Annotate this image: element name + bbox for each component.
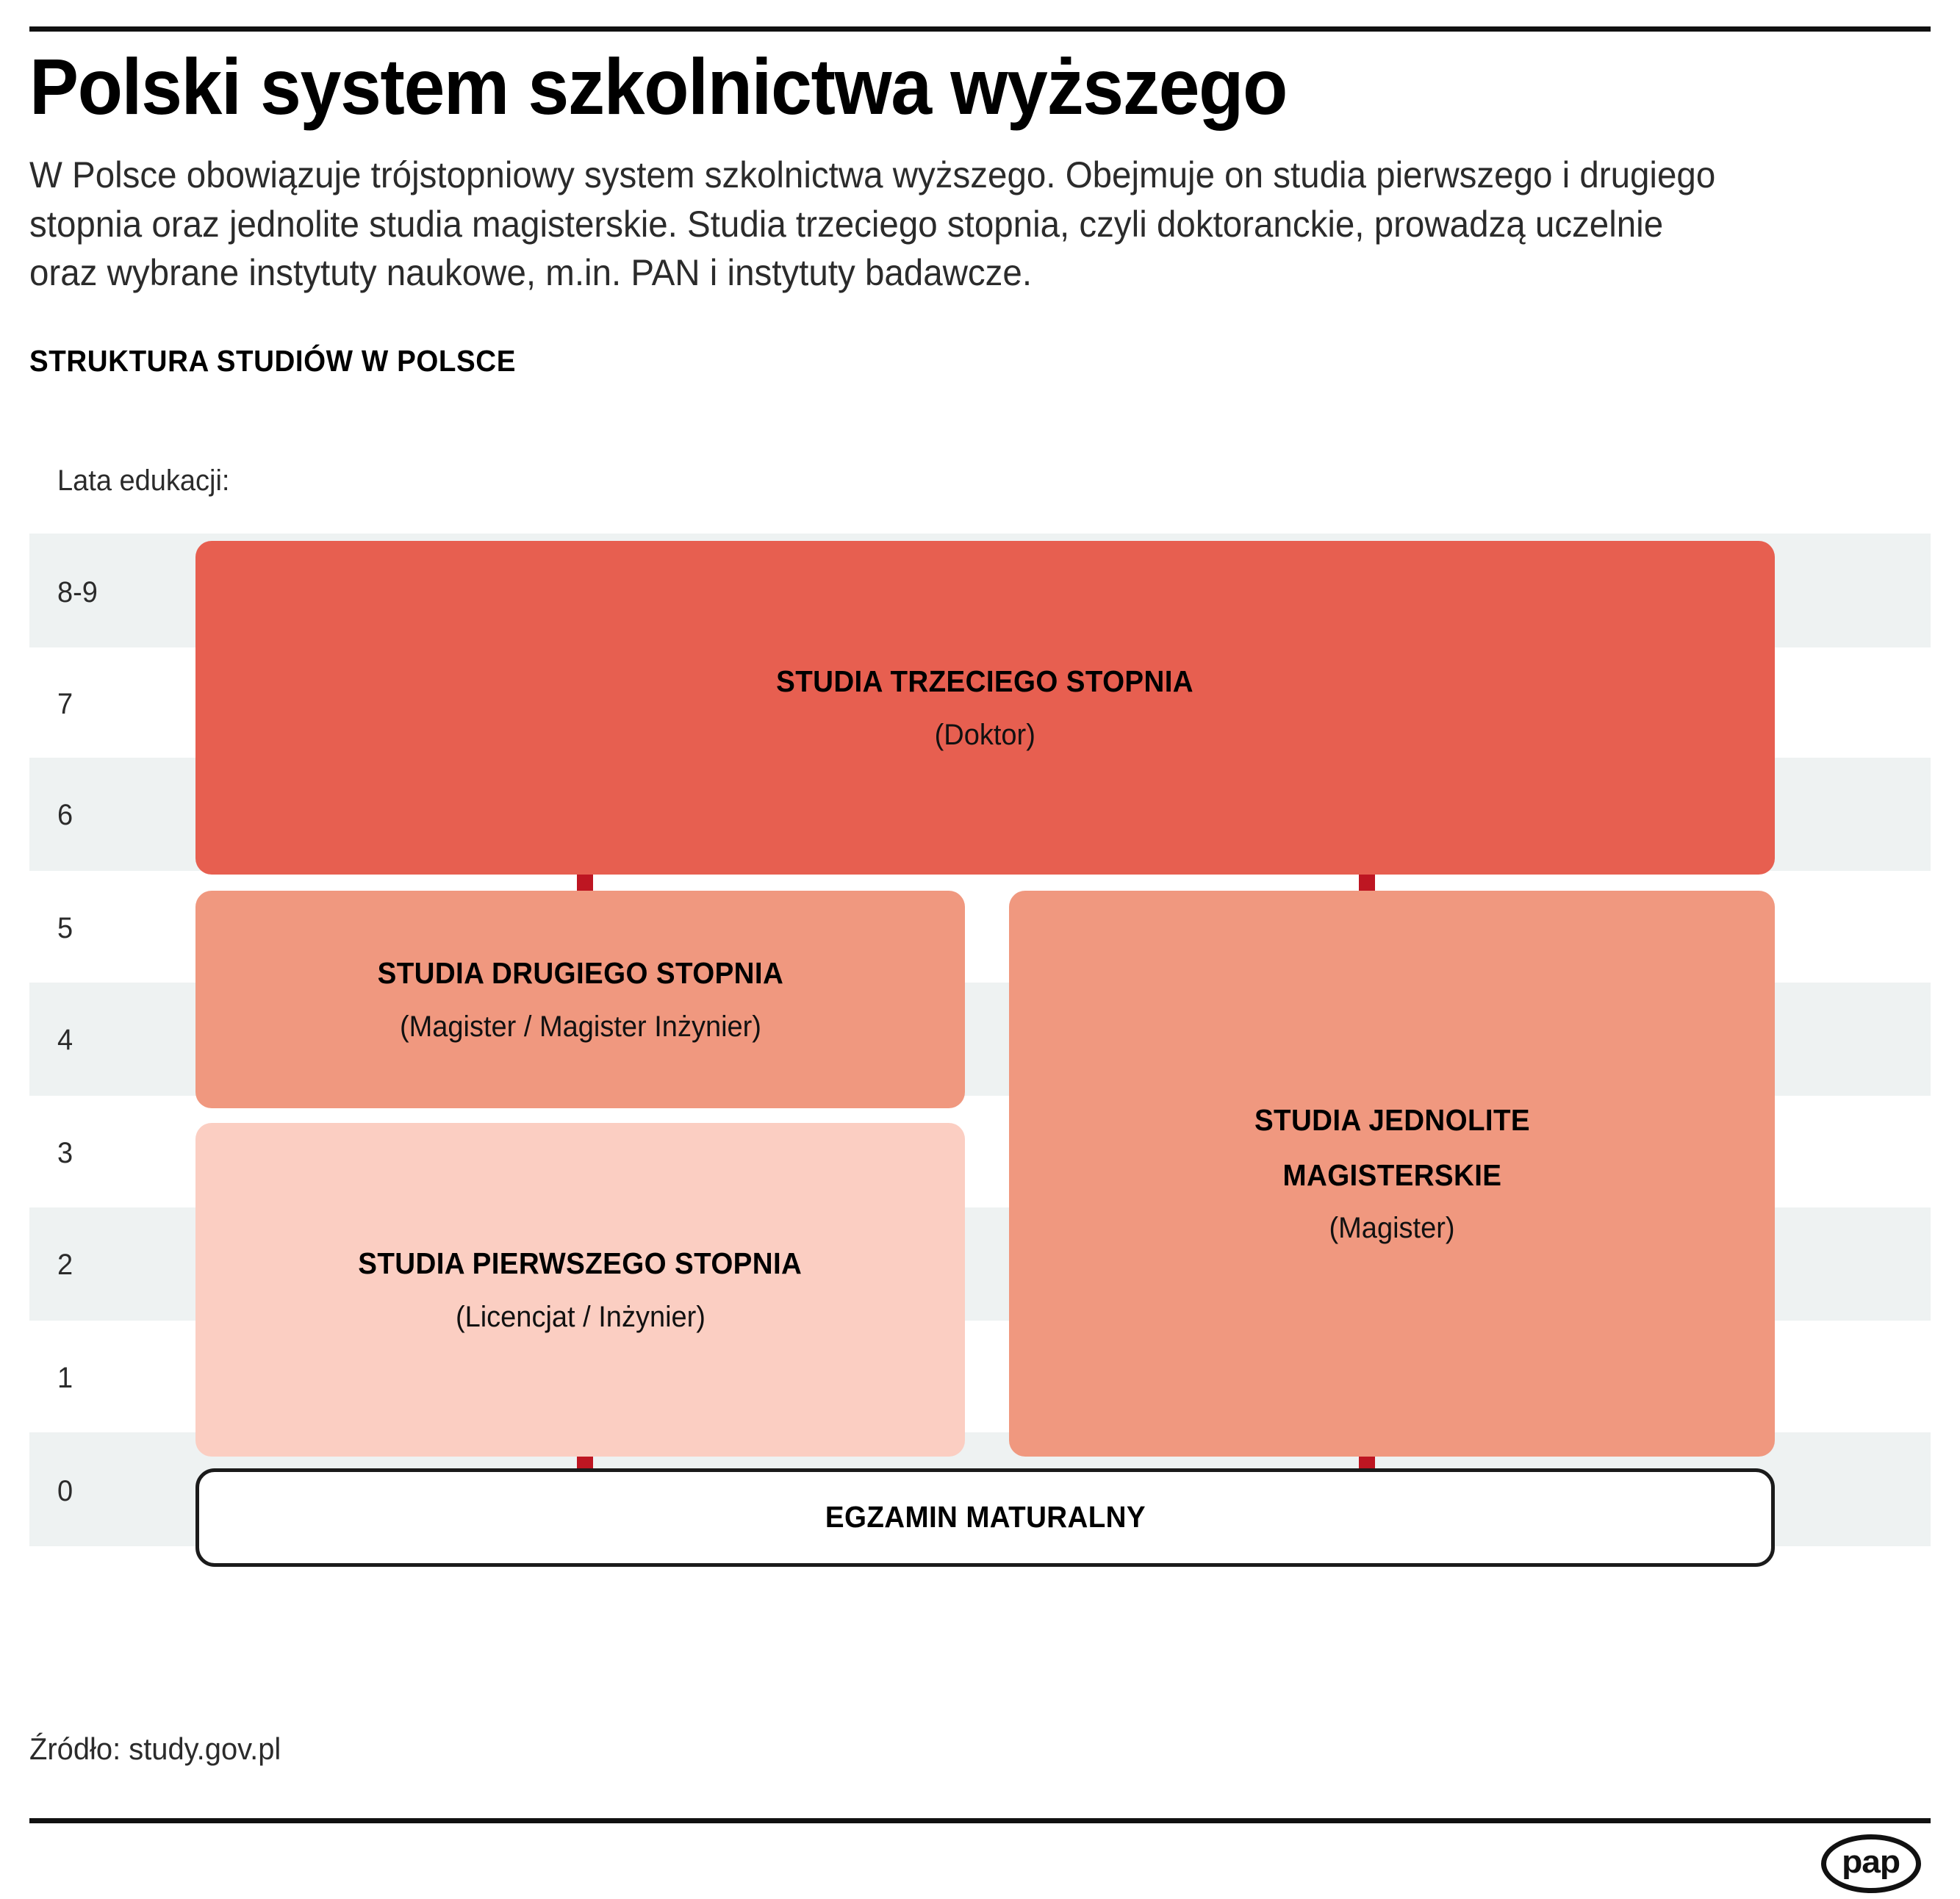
block-first-cycle-title: STUDIA PIERWSZEGO STOPNIA	[358, 1242, 802, 1285]
block-second-cycle-title: STUDIA DRUGIEGO STOPNIA	[377, 952, 783, 995]
year-label-0: 0	[57, 1475, 73, 1508]
block-matura-exam-title: EGZAMIN MATURALNY	[825, 1496, 1145, 1539]
block-first-cycle[interactable]: STUDIA PIERWSZEGO STOPNIA (Licencjat / I…	[195, 1123, 965, 1457]
block-first-cycle-subtitle: (Licencjat / Inżynier)	[455, 1296, 705, 1338]
block-third-cycle[interactable]: STUDIA TRZECIEGO STOPNIA (Doktor)	[195, 541, 1775, 875]
year-label-4: 4	[57, 1024, 73, 1057]
section-subheading: STRUKTURA STUDIÓW W POLSCE	[29, 344, 516, 378]
intro-line-1: W Polsce obowiązuje trójstopniowy system…	[29, 151, 1824, 200]
year-label-3: 3	[57, 1137, 73, 1170]
header-rule	[29, 26, 1931, 32]
block-long-cycle-subtitle: (Magister)	[1329, 1207, 1454, 1249]
year-label-5: 5	[57, 912, 73, 945]
block-long-cycle-master[interactable]: STUDIA JEDNOLITE MAGISTERSKIE (Magister)	[1009, 891, 1775, 1457]
block-second-cycle-subtitle: (Magister / Magister Inżynier)	[399, 1006, 761, 1047]
intro-paragraph: W Polsce obowiązuje trójstopniowy system…	[29, 151, 1824, 298]
source-note: Źródło: study.gov.pl	[29, 1731, 281, 1767]
year-label-8-9: 8-9	[57, 576, 98, 609]
structure-diagram: 8-9 7 6 5 4 3 2 1 0	[29, 534, 1931, 1593]
block-third-cycle-subtitle: (Doktor)	[935, 714, 1035, 755]
intro-line-2: stopnia oraz jednolite studia magistersk…	[29, 200, 1824, 249]
intro-line-3: oraz wybrane instytuty naukowe, m.in. PA…	[29, 248, 1824, 298]
block-second-cycle[interactable]: STUDIA DRUGIEGO STOPNIA (Magister / Magi…	[195, 891, 965, 1108]
block-matura-exam[interactable]: EGZAMIN MATURALNY	[195, 1468, 1775, 1567]
year-label-2: 2	[57, 1249, 73, 1282]
year-label-7: 7	[57, 688, 73, 721]
infographic-canvas: Polski system szkolnictwa wyższego W Pol…	[0, 0, 1960, 1899]
block-third-cycle-title: STUDIA TRZECIEGO STOPNIA	[777, 660, 1194, 703]
axis-caption: Lata edukacji:	[57, 464, 230, 498]
block-long-cycle-title-line2: MAGISTERSKIE	[1282, 1154, 1501, 1197]
block-long-cycle-title-line1: STUDIA JEDNOLITE	[1254, 1099, 1529, 1142]
footer-rule	[29, 1818, 1931, 1823]
year-label-1: 1	[57, 1362, 73, 1395]
pap-logo: pap	[1821, 1834, 1921, 1893]
pap-logo-text: pap	[1842, 1846, 1900, 1878]
year-label-6: 6	[57, 799, 73, 832]
page-title: Polski system szkolnictwa wyższego	[29, 46, 1779, 128]
